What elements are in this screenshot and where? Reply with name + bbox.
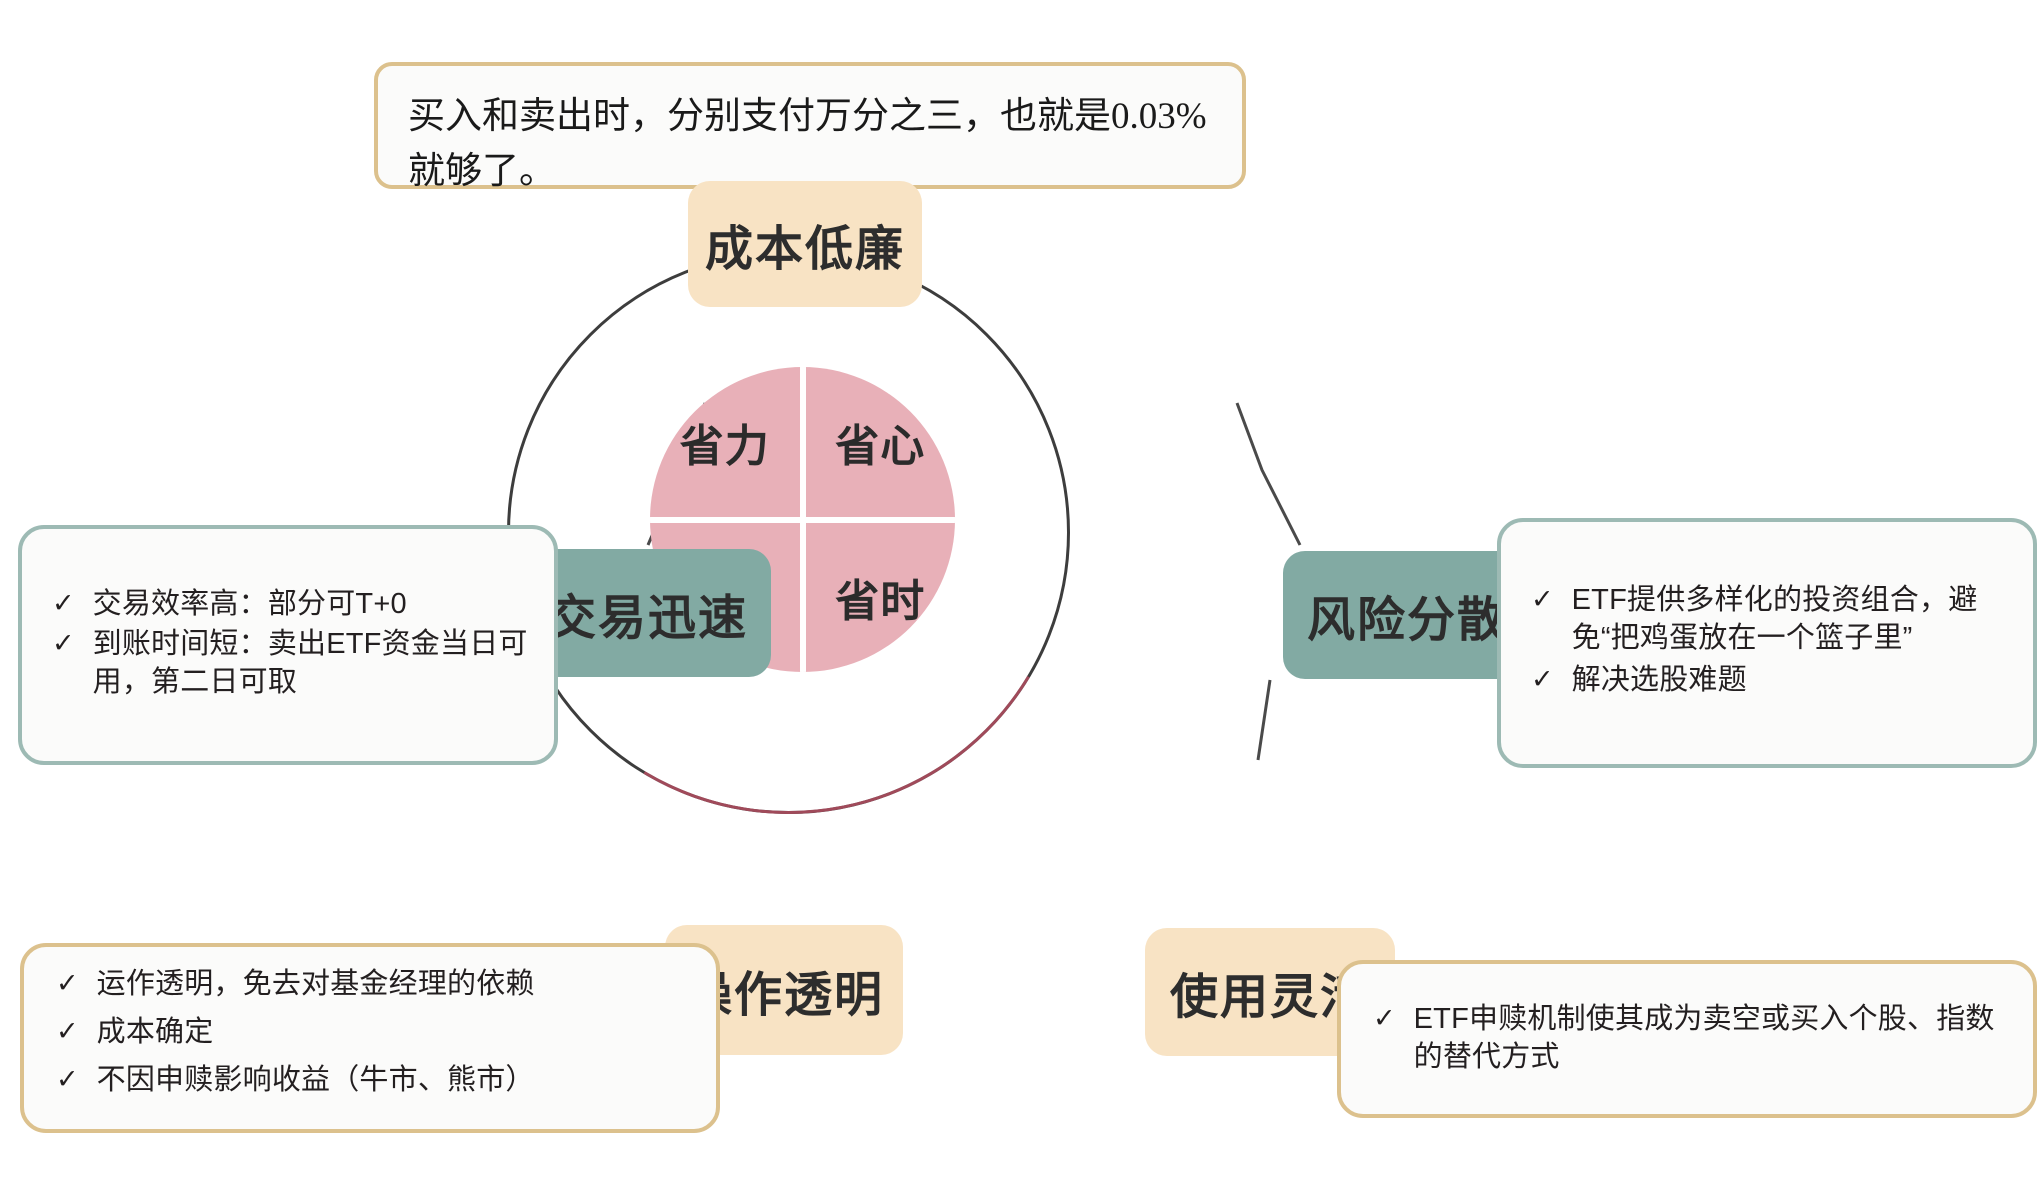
check-icon: ✓ <box>1531 662 1554 698</box>
list-item: ✓ ETF提供多样化的投资组合，避免“把鸡蛋放在一个篮子里” <box>1531 582 2007 657</box>
list-item: ✓ ETF申赎机制使其成为卖空或买入个股、指数的替代方式 <box>1373 1001 2007 1076</box>
list-item: ✓ 交易效率高：部分可T+0 <box>52 586 528 624</box>
list-item-text: 不因申赎影响收益（牛市、熊市） <box>97 1062 535 1100</box>
list-item-text: 成本确定 <box>97 1014 214 1052</box>
list-item: ✓ 不因申赎影响收益（牛市、熊市） <box>56 1062 690 1100</box>
check-icon: ✓ <box>56 966 79 1002</box>
callout-bottom-right-flexibility: ✓ ETF申赎机制使其成为卖空或买入个股、指数的替代方式 <box>1337 960 2037 1118</box>
check-icon: ✓ <box>1531 582 1554 618</box>
callout-bottom-left-transparency: ✓ 运作透明，免去对基金经理的依赖 ✓ 成本确定 ✓ 不因申赎影响收益（牛市、熊… <box>20 943 720 1133</box>
list-item: ✓ 解决选股难题 <box>1531 662 2007 700</box>
check-icon: ✓ <box>52 626 75 662</box>
list-item: ✓ 运作透明，免去对基金经理的依赖 <box>56 966 690 1004</box>
pill-label: 风险分散 <box>1307 580 1507 650</box>
list-item-text: 解决选股难题 <box>1572 662 1747 700</box>
list-item-text: ETF提供多样化的投资组合，避免“把鸡蛋放在一个篮子里” <box>1572 582 2007 657</box>
check-icon: ✓ <box>1373 1001 1396 1037</box>
check-icon: ✓ <box>56 1014 79 1050</box>
connector-risk-lower <box>1258 680 1270 760</box>
pill-label: 交易迅速 <box>548 578 748 648</box>
list-item: ✓ 到账时间短：卖出ETF资金当日可用，第二日可取 <box>52 626 528 701</box>
pie-quadrant-top-right: 省心 <box>803 367 956 520</box>
callout-right-risk: ✓ ETF提供多样化的投资组合，避免“把鸡蛋放在一个篮子里” ✓ 解决选股难题 <box>1497 518 2037 768</box>
list-item-text: 交易效率高：部分可T+0 <box>93 586 407 624</box>
diagram-canvas: 买入和卖出时，分别支付万分之三，也就是0.03%就够了。 省力 省心 省钱 省时… <box>0 0 2044 1194</box>
pie-quadrant-label: 省时 <box>835 565 925 629</box>
pie-quadrant-bottom-right: 省时 <box>803 520 956 673</box>
pie-quadrant-top-left: 省力 <box>650 367 803 520</box>
pill-fast-trading[interactable]: 交易迅速 <box>525 549 771 677</box>
pie-quadrant-label: 省力 <box>680 410 770 474</box>
check-icon: ✓ <box>56 1062 79 1098</box>
check-icon: ✓ <box>52 586 75 622</box>
list-item-text: 到账时间短：卖出ETF资金当日可用，第二日可取 <box>93 626 528 701</box>
callout-left-fast-trading: ✓ 交易效率高：部分可T+0 ✓ 到账时间短：卖出ETF资金当日可用，第二日可取 <box>18 525 558 765</box>
pill-label: 成本低廉 <box>705 209 905 279</box>
connector-risk <box>1237 403 1300 545</box>
list-item: ✓ 成本确定 <box>56 1014 690 1052</box>
pill-cost-low[interactable]: 成本低廉 <box>688 181 922 307</box>
list-item-text: ETF申赎机制使其成为卖空或买入个股、指数的替代方式 <box>1414 1001 2007 1076</box>
top-note-box: 买入和卖出时，分别支付万分之三，也就是0.03%就够了。 <box>374 62 1246 189</box>
pie-quadrant-label: 省心 <box>835 410 925 474</box>
pill-risk-diversification[interactable]: 风险分散 <box>1283 551 1531 679</box>
list-item-text: 运作透明，免去对基金经理的依赖 <box>97 966 535 1004</box>
